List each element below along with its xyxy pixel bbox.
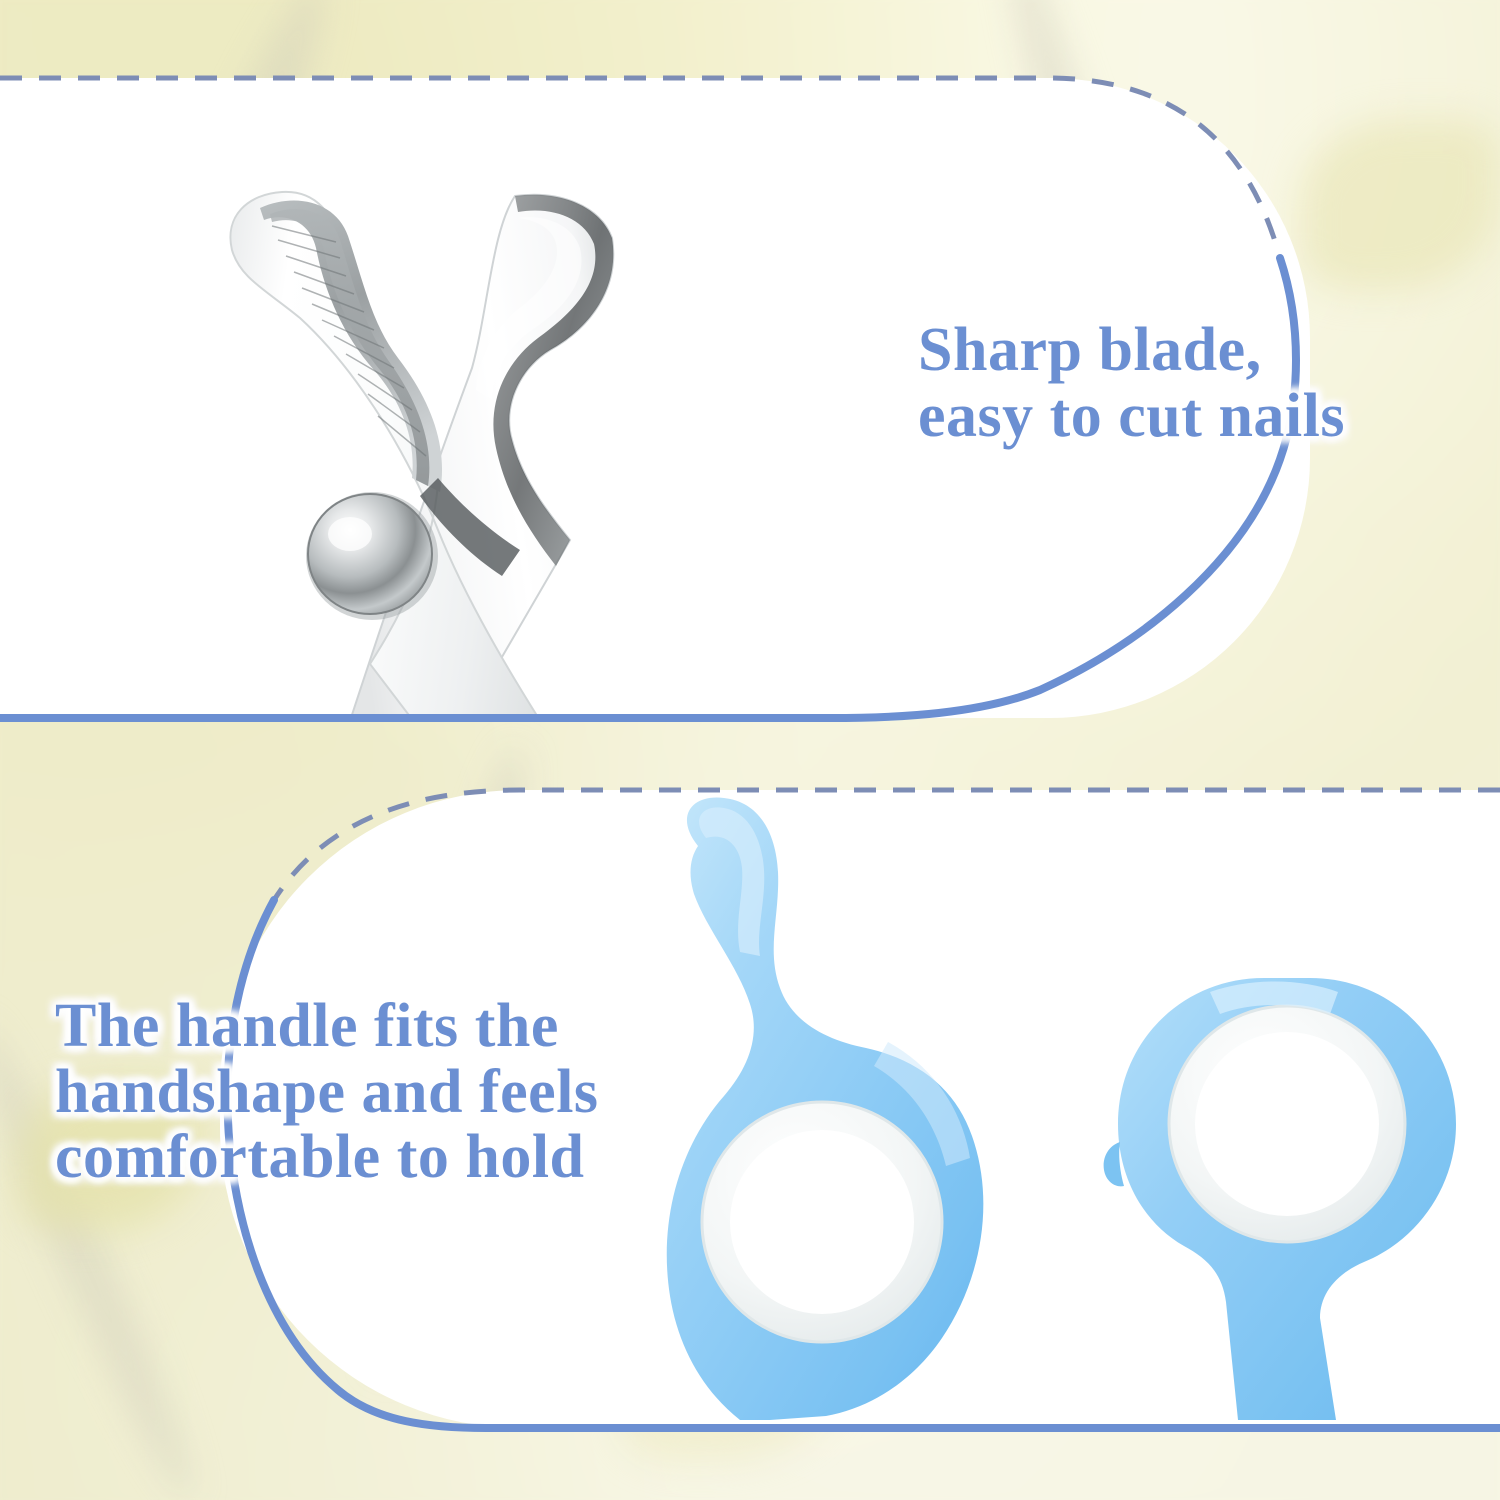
comfortable-handle-callout: The handle fits the handshape and feels … bbox=[55, 994, 755, 1191]
callout-line: handshape and feels bbox=[55, 1060, 755, 1126]
handle-comfort-panel-border bbox=[0, 0, 1500, 1500]
infographic-canvas: Sharp blade, easy to cut nails bbox=[0, 0, 1500, 1500]
callout-line: comfortable to hold bbox=[55, 1125, 755, 1191]
callout-line: The handle fits the bbox=[55, 994, 755, 1060]
panel-bottom-dashed-edge bbox=[274, 790, 1500, 900]
